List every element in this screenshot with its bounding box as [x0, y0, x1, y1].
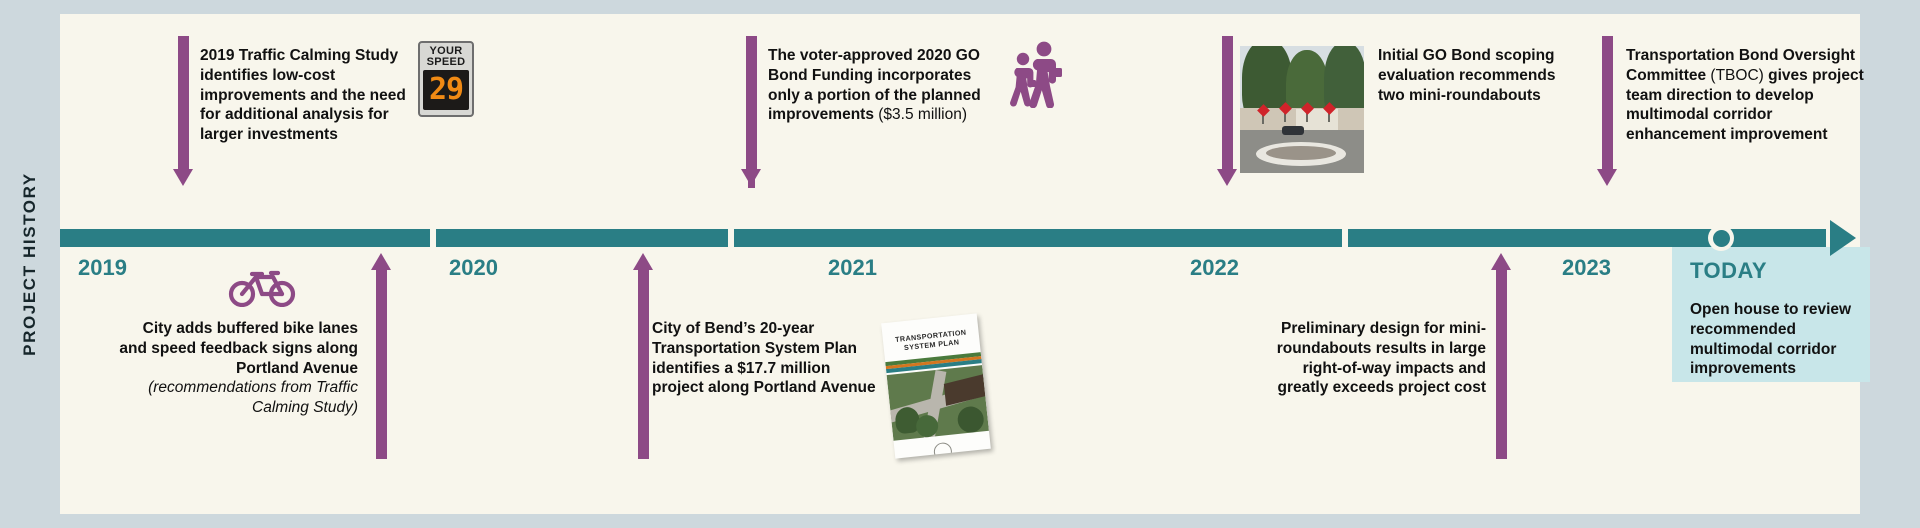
speed-sign-line-2: SPEED — [423, 57, 469, 68]
year-label-2023: 2023 — [1562, 255, 1611, 281]
timeline-infographic: PROJECT HISTORY 2019 2020 2021 2022 2023… — [0, 0, 1920, 528]
today-marker — [1708, 225, 1734, 251]
section-title: PROJECT HISTORY — [20, 172, 40, 356]
pedestrians-walking-icon — [1008, 40, 1064, 108]
event-arrow-down-tboc — [1602, 36, 1613, 188]
callout-go-bond-funding: The voter-approved 2020 GO Bond Funding … — [768, 46, 996, 125]
callout-buffered-bike-lanes: City adds buffered bike lanes and speed … — [118, 319, 358, 418]
year-label-2020: 2020 — [449, 255, 498, 281]
tsp-booklet-icon: TRANSPORTATION SYSTEM PLAN CITY OF BEND — [881, 313, 991, 458]
timeline-segment — [436, 229, 728, 247]
year-label-2022: 2022 — [1190, 255, 1239, 281]
bicycle-icon — [228, 265, 296, 307]
booklet-title: TRANSPORTATION SYSTEM PLAN — [888, 327, 973, 354]
event-arrow-up-preliminary-design — [1496, 253, 1507, 458]
callout-tboc-direction: Transportation Bond Oversight Committee … — [1626, 46, 1866, 145]
timeline-segment — [60, 229, 430, 247]
event-arrow-down-go-bond-scoping — [1222, 36, 1233, 188]
callout-go-bond-amount: ($3.5 million) — [878, 106, 967, 123]
timeline-axis — [60, 229, 1855, 247]
speed-sign-display: 29 — [423, 70, 469, 110]
callout-bike-lanes-bold: City adds buffered bike lanes and speed … — [119, 320, 358, 377]
callout-bike-lanes-note: (recommendations from Traffic Calming St… — [148, 379, 358, 416]
callout-traffic-calming-study: 2019 Traffic Calming Study identifies lo… — [200, 46, 422, 145]
event-arrow-up-bike-lanes — [376, 253, 387, 458]
section-title-strip: PROJECT HISTORY — [0, 0, 60, 528]
timeline-segment — [1348, 229, 1826, 247]
callout-transportation-system-plan: City of Bend’s 20-year Transportation Sy… — [652, 319, 880, 398]
callout-tboc-acronym: (TBOC) — [1710, 67, 1763, 84]
today-label: TODAY — [1690, 258, 1767, 284]
year-label-2021: 2021 — [828, 255, 877, 281]
year-label-2019: 2019 — [78, 255, 127, 281]
today-dot-icon — [1713, 230, 1730, 247]
timeline-segment — [734, 229, 1342, 247]
event-arrow-down-traffic-calming — [178, 36, 189, 188]
callout-preliminary-design: Preliminary design for mini-roundabouts … — [1258, 319, 1486, 398]
today-description: Open house to review recommended multimo… — [1690, 300, 1868, 379]
speed-feedback-sign-icon: YOUR SPEED 29 — [418, 41, 474, 117]
callout-go-bond-scoping: Initial GO Bond scoping evaluation recom… — [1378, 46, 1578, 105]
mini-roundabout-photo — [1240, 46, 1364, 173]
timeline-arrowhead-icon — [1830, 220, 1856, 256]
event-arrow-down-go-bond — [746, 36, 757, 188]
speed-sign-reading: 29 — [429, 75, 463, 105]
booklet-cover-photo — [887, 365, 989, 441]
event-arrow-up-tsp — [638, 253, 649, 458]
